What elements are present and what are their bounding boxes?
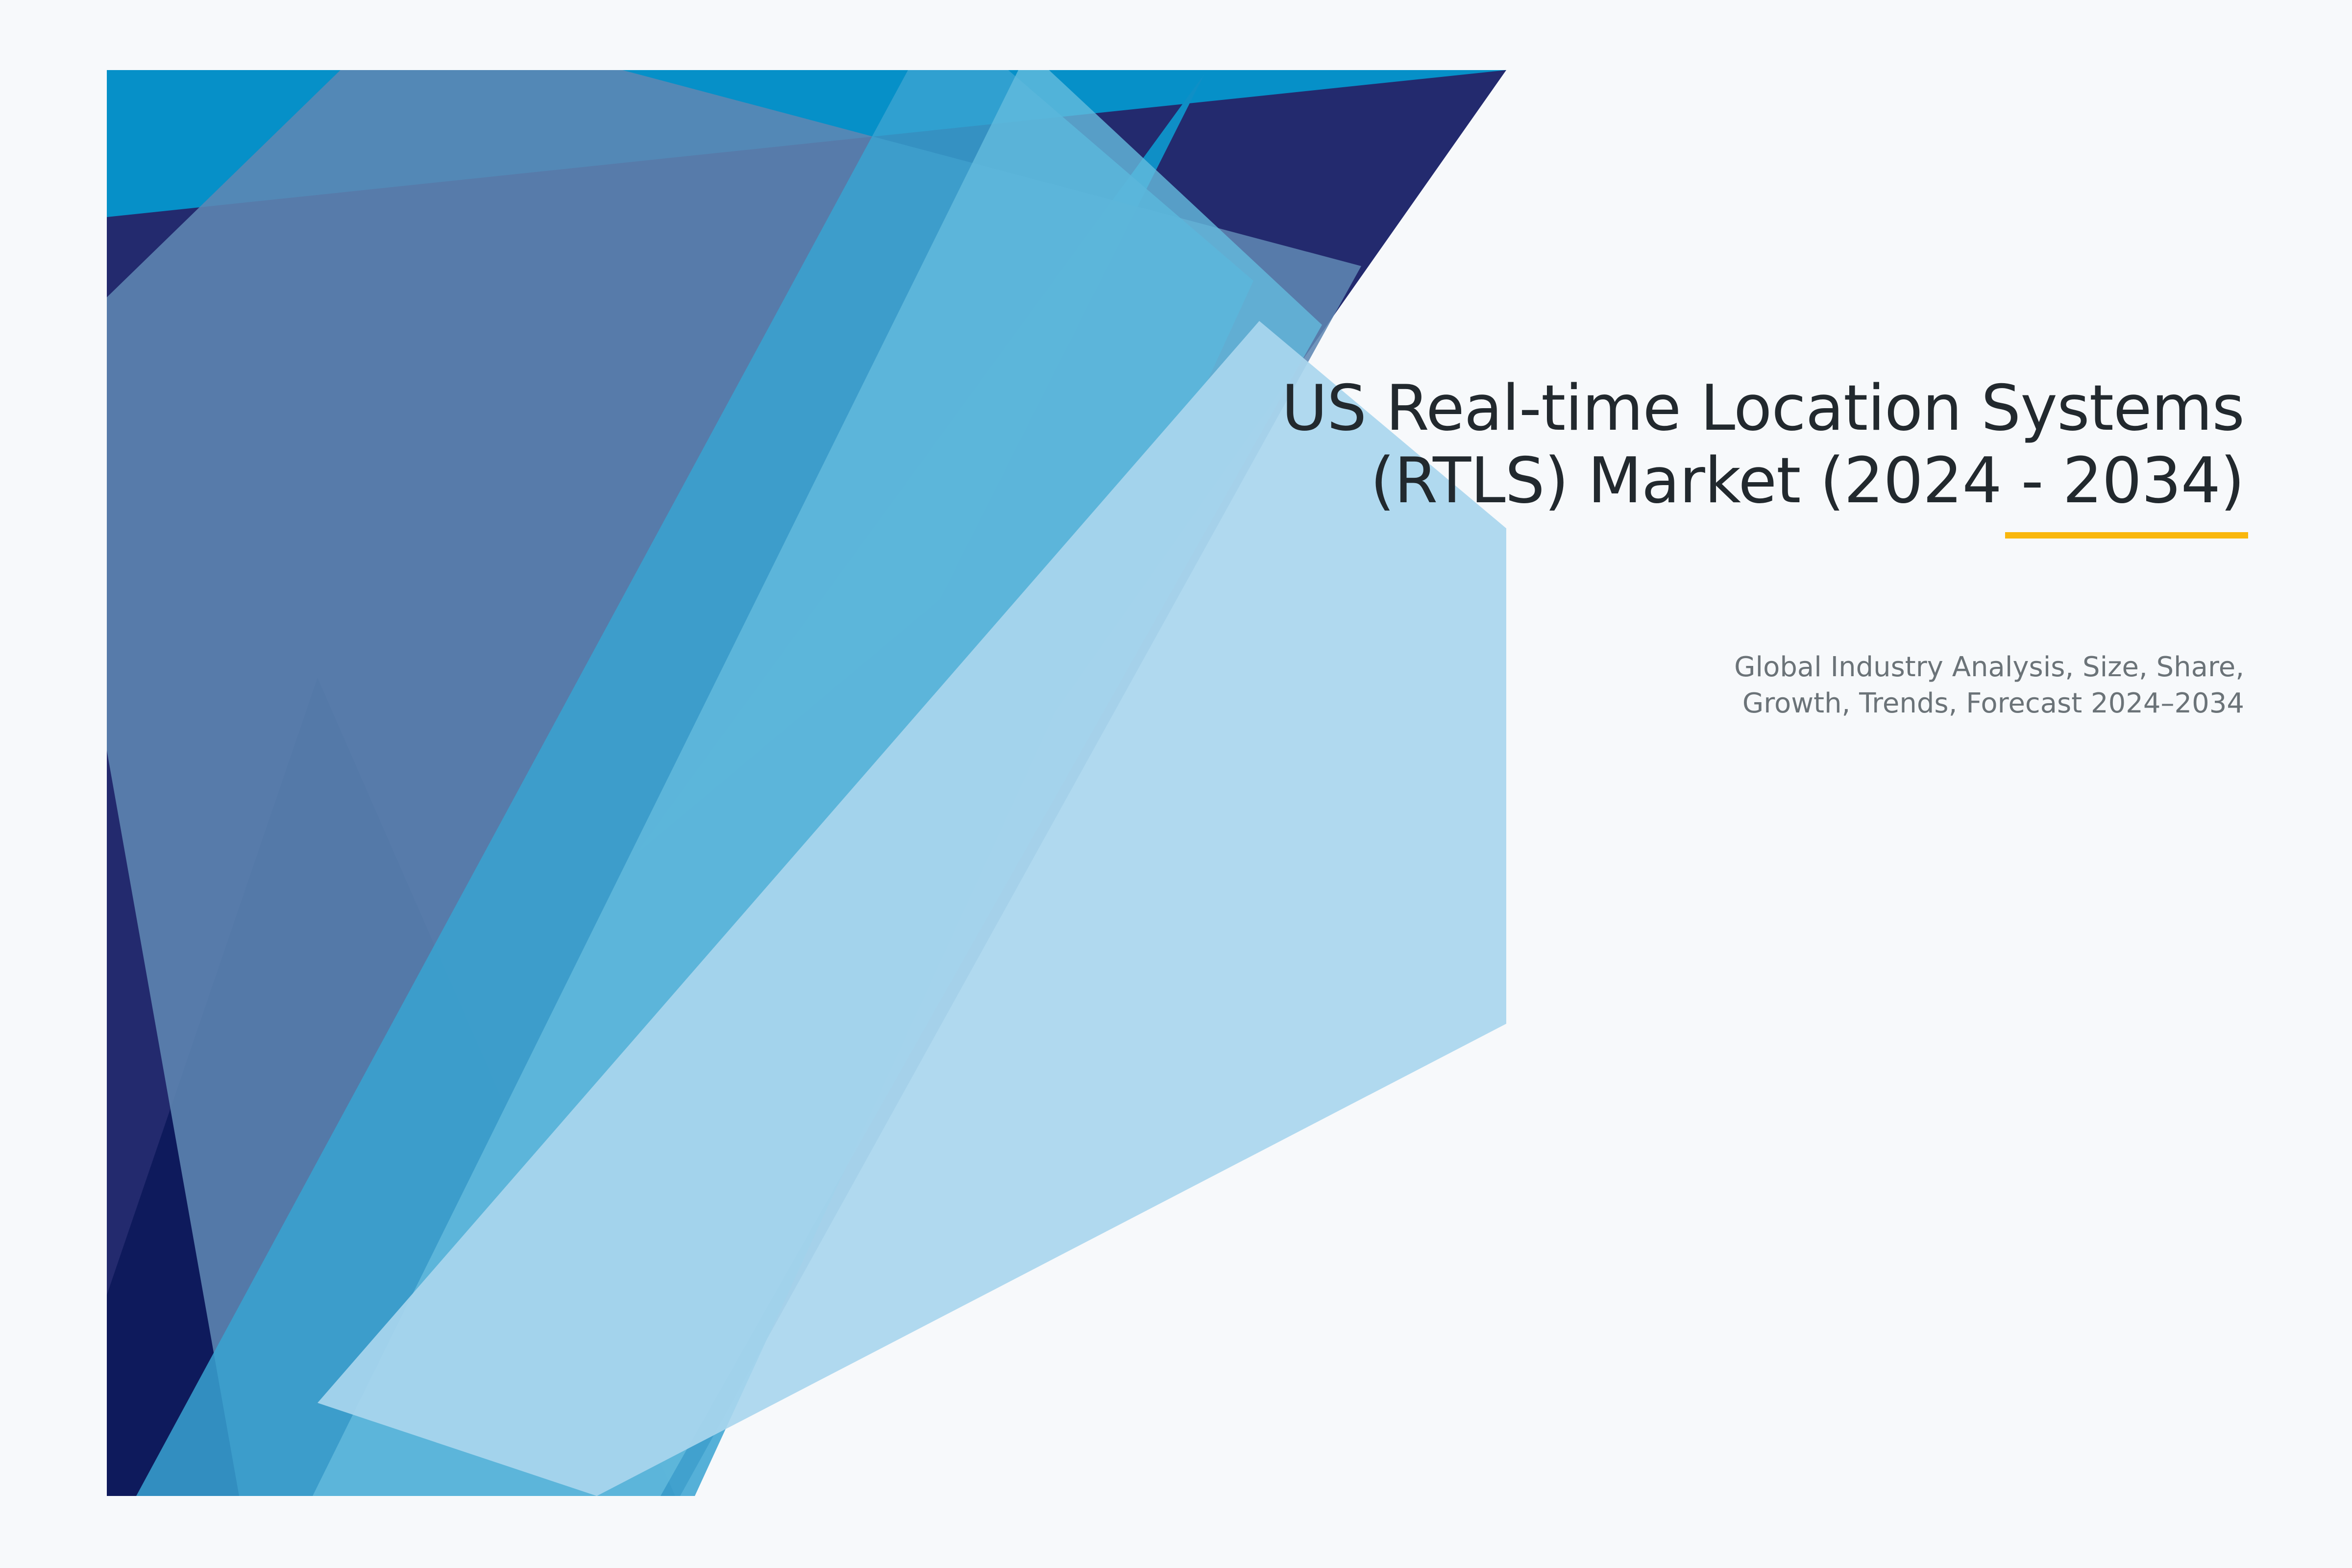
- page-title: US Real-time Location Systems (RTLS) Mar…: [1068, 372, 2244, 518]
- cover-text-block: US Real-time Location Systems (RTLS) Mar…: [1068, 372, 2244, 518]
- abstract-geometric-cover-graphic: [107, 70, 1506, 1496]
- page-subtitle: Global Industry Analysis, Size, Share, G…: [1068, 649, 2244, 722]
- report-cover-page: US Real-time Location Systems (RTLS) Mar…: [0, 0, 2352, 1568]
- title-accent-rule: [2005, 532, 2248, 539]
